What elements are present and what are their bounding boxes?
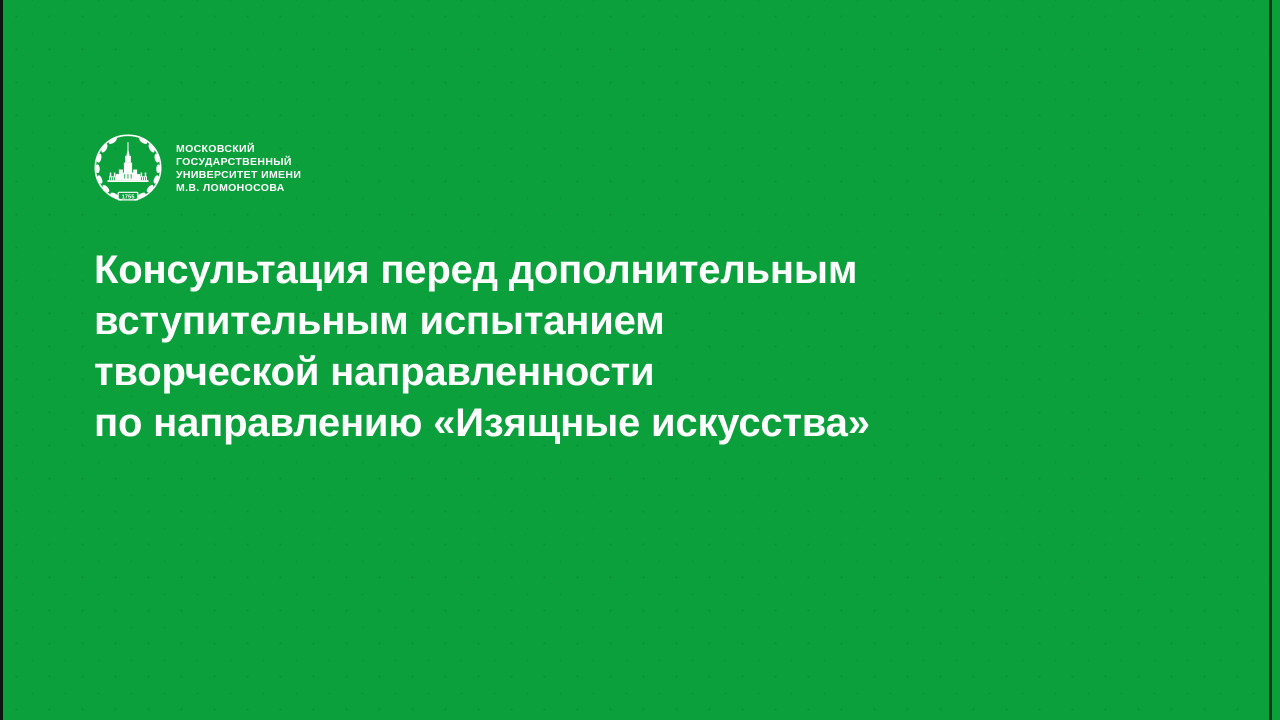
logo-wordmark-line-2: ГОСУДАРСТВЕННЫЙ bbox=[176, 156, 301, 169]
logo-wordmark-line-3: УНИВЕРСИТЕТ ИМЕНИ bbox=[176, 169, 301, 182]
slide-canvas: 1755 МОСКОВСКИЙ ГОСУДАРСТВЕННЫЙ УНИВЕРСИ… bbox=[0, 0, 1280, 720]
title-line-3: творческой направленности bbox=[94, 347, 1094, 398]
title-line-2: вступительным испытанием bbox=[94, 296, 1094, 347]
msu-logo: 1755 МОСКОВСКИЙ ГОСУДАРСТВЕННЫЙ УНИВЕРСИ… bbox=[90, 130, 301, 206]
emblem-year-text: 1755 bbox=[122, 194, 136, 200]
left-edge-strip bbox=[0, 0, 3, 720]
logo-wordmark-line-1: МОСКОВСКИЙ bbox=[176, 143, 301, 156]
right-edge-strip bbox=[1269, 0, 1272, 720]
logo-wordmark-line-4: М.В. ЛОМОНОСОВА bbox=[176, 182, 301, 195]
slide-title: Консультация перед дополнительным вступи… bbox=[94, 245, 1094, 449]
title-line-4: по направлению «Изящные искусства» bbox=[94, 398, 1094, 449]
msu-logo-wordmark: МОСКОВСКИЙ ГОСУДАРСТВЕННЫЙ УНИВЕРСИТЕТ И… bbox=[176, 141, 301, 196]
msu-emblem-icon: 1755 bbox=[90, 130, 166, 206]
title-line-1: Консультация перед дополнительным bbox=[94, 245, 1094, 296]
